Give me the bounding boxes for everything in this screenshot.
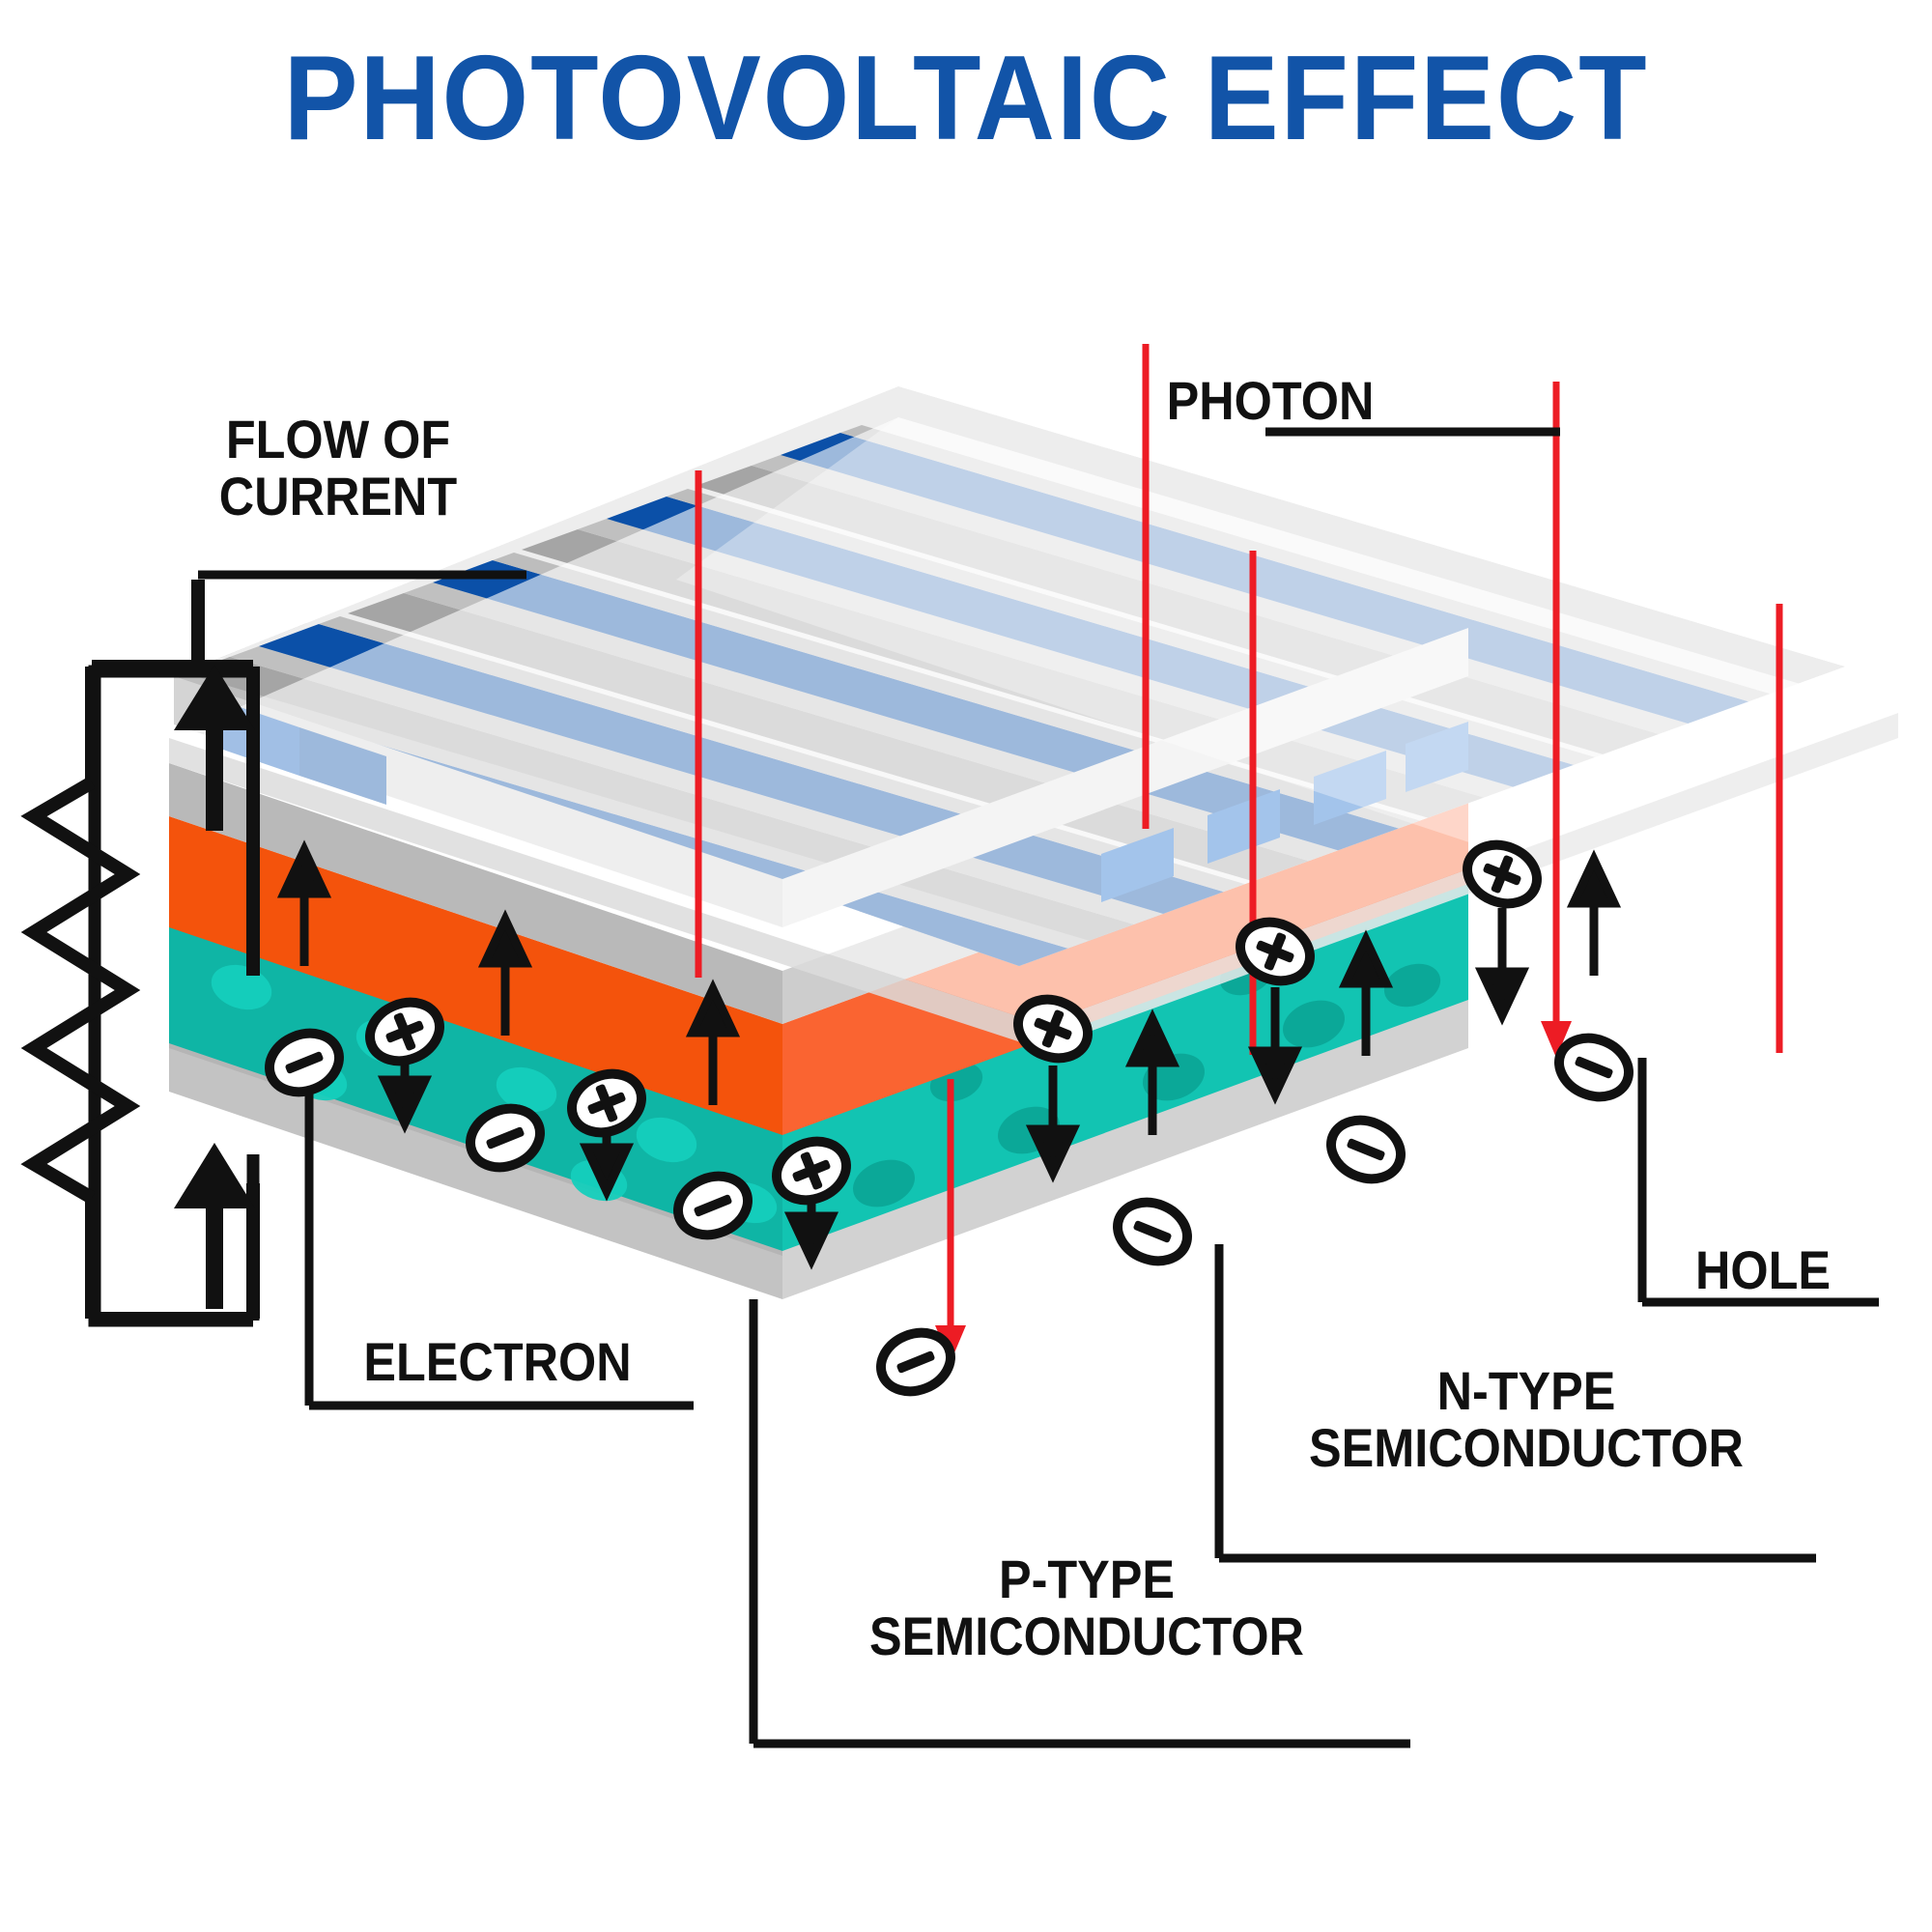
text-labels: PHOTOVOLTAIC EFFECT FLOW OF CURRENT PHOT… bbox=[0, 0, 1932, 1932]
label-hole: HOLE bbox=[1650, 1241, 1876, 1298]
label-electron: ELECTRON bbox=[324, 1333, 671, 1390]
label-flow-of-current: FLOW OF CURRENT bbox=[164, 411, 512, 526]
label-p-type-semiconductor: P-TYPE SEMICONDUCTOR bbox=[796, 1550, 1378, 1665]
diagram-canvas: PHOTOVOLTAIC EFFECT FLOW OF CURRENT PHOT… bbox=[0, 0, 1932, 1932]
label-photon: PHOTON bbox=[1140, 372, 1401, 429]
label-n-type-semiconductor: N-TYPE SEMICONDUCTOR bbox=[1257, 1362, 1796, 1477]
page-title: PHOTOVOLTAIC EFFECT bbox=[68, 39, 1864, 158]
